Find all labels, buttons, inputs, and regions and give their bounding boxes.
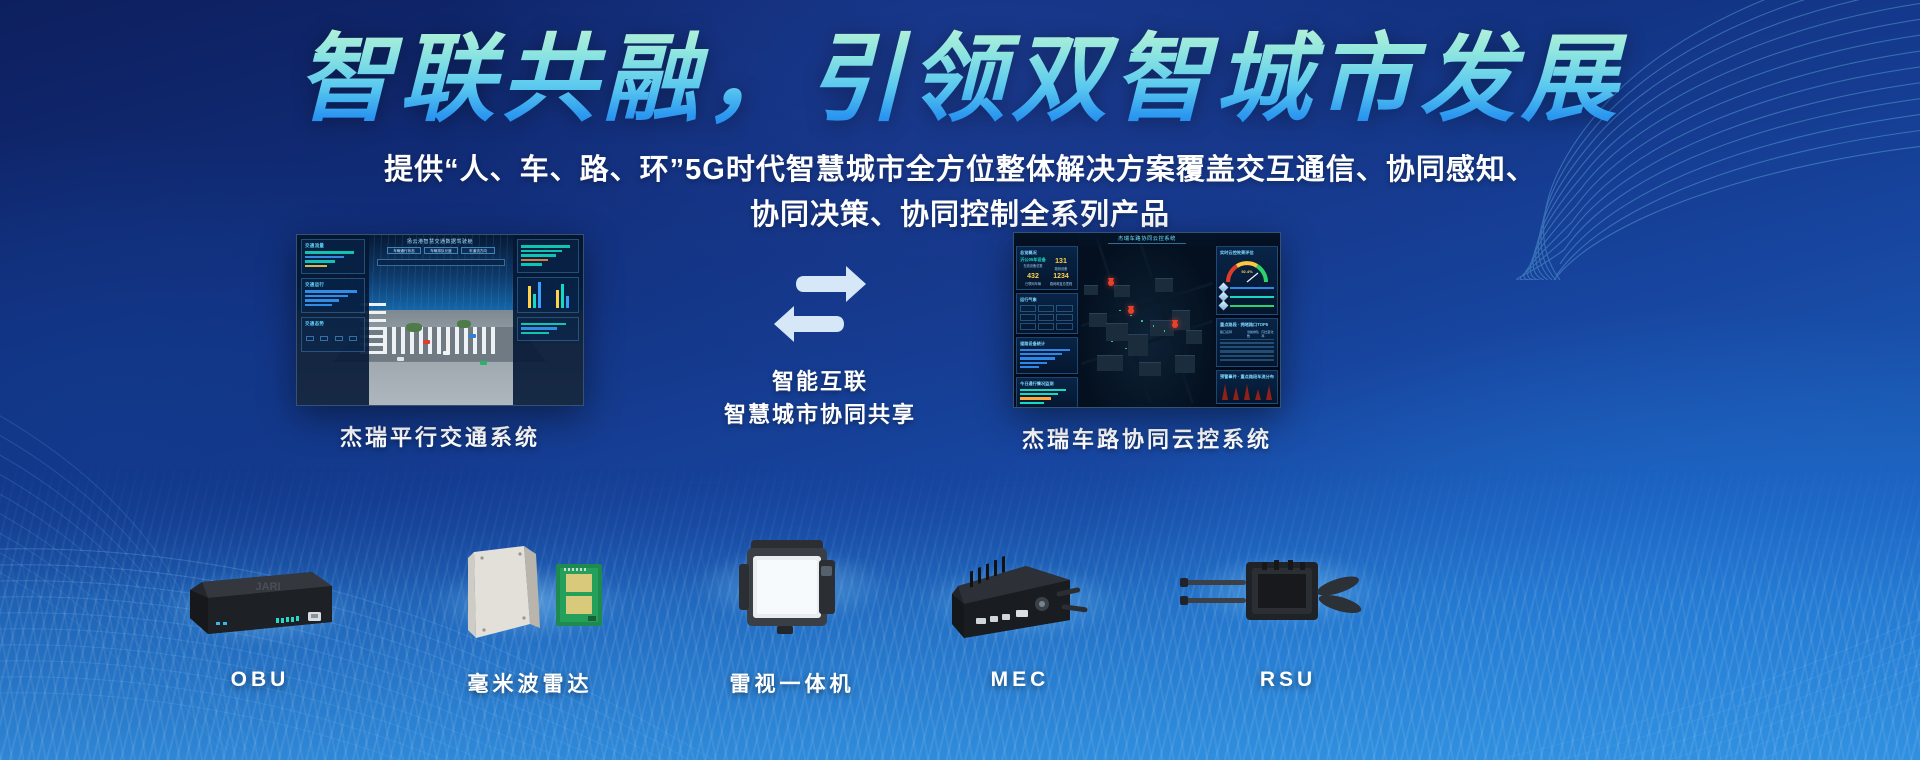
weather-cell [1020, 314, 1036, 321]
metric-bar [521, 254, 556, 257]
right-panel-caption: 杰瑞车路协同云控系统 [1013, 422, 1281, 454]
radar-device-art [410, 542, 650, 646]
stat-bar [1020, 397, 1051, 399]
card-cloud-effect: 实时云控效果评估 92.4% [1216, 246, 1278, 315]
table-row [1220, 350, 1274, 352]
weather-cell [1038, 305, 1054, 312]
bar [566, 296, 569, 308]
left-card-traffic-run-title: 交通运行 [305, 282, 361, 288]
stat-bar [1020, 353, 1062, 355]
spike-bar [1233, 387, 1239, 400]
card-device-stats: 道路设备统计 [1016, 337, 1078, 374]
product-item-rsu[interactable]: RSU [1168, 530, 1408, 692]
map-sensor-dot [1141, 320, 1143, 322]
obu-device-icon: JARI [180, 556, 340, 648]
map-building [1106, 323, 1128, 341]
rsu-device-art [1168, 530, 1408, 634]
product-item-mec[interactable]: MEC [900, 542, 1140, 692]
scene-crosswalk-h [383, 327, 497, 354]
card-weather: 运行气象 [1016, 293, 1078, 334]
metric-bar [305, 304, 332, 307]
mec-device-art [900, 542, 1140, 646]
map-building [1097, 355, 1123, 371]
svg-text:JARI: JARI [255, 581, 280, 593]
legend-bar [1230, 287, 1274, 289]
card-congestion-top-title: 重点路段 · 拥堵路口TOP5 [1220, 322, 1274, 328]
weather-cell [1020, 305, 1036, 312]
bar [528, 286, 531, 308]
card-overview: 总览概况 沂公05年设备 在线设备总数 131 路侧设备 [1016, 246, 1078, 290]
center-caption-line-1: 智能互联 [640, 365, 1000, 398]
map-marker-pin[interactable] [1172, 320, 1178, 328]
product-label-camera: 雷视一体机 [672, 668, 912, 698]
obu-device-art: JARI [140, 548, 380, 652]
left-screen-toolbar[interactable]: 车辆通行状态 车辆排队长度 车道流方向 [371, 247, 511, 254]
spike-bar [1255, 389, 1261, 400]
right-screen-sidebar-left: 总览概况 沂公05年设备 在线设备总数 131 路侧设备 [1016, 246, 1078, 405]
scene-car-5 [480, 361, 487, 365]
map-building [1089, 313, 1107, 327]
card-today-traffic-title: 今日通行情况监测 [1020, 381, 1074, 387]
toolbar-button-0[interactable]: 车辆通行状态 [387, 247, 421, 254]
parallel-traffic-system-screenshot[interactable]: 扬云港智慧交通数据驾驶舱 车辆通行状态 车辆排队长度 车道流方向 交通流量 [296, 234, 584, 406]
right-dashboard-panel[interactable]: 杰瑞车路协同云控系统 总览概况 沂公05年设备 在线设备总数 131 路 [1013, 232, 1281, 454]
scene-car-1 [423, 340, 430, 344]
table-row [1220, 359, 1274, 361]
right-card-a [517, 239, 579, 273]
product-item-radar[interactable]: 毫米波雷达 [410, 542, 650, 698]
weather-cell [1056, 323, 1072, 330]
product-label-obu: OBU [140, 668, 380, 692]
center-caption-line-2: 智慧城市协同共享 [640, 398, 1000, 431]
left-panel-caption: 杰瑞平行交通系统 [296, 420, 584, 452]
product-row: JARI OBU [0, 548, 1920, 748]
card-cloud-effect-title: 实时云控效果评估 [1220, 250, 1274, 256]
map-sensor-dot [1111, 341, 1113, 343]
product-item-camera[interactable]: 雷视一体机 [672, 526, 912, 698]
city-3d-map[interactable] [1078, 233, 1216, 407]
weather-cell [1056, 305, 1072, 312]
toolbar-button-1[interactable]: 车辆排队长度 [424, 247, 458, 254]
metric-bar [305, 265, 327, 268]
right-card-bars [517, 277, 579, 313]
map-marker-pin[interactable] [1108, 278, 1114, 286]
radar-camera-icon [717, 526, 867, 646]
center-caption: 智能互联 智慧城市协同共享 [640, 365, 1000, 431]
metric-bar [305, 251, 354, 254]
page-title: 智联共融，引领双智城市发展 [0, 24, 1920, 134]
card-flow-distribution-title: 预警事件 · 重点路段车流分布 [1220, 374, 1274, 380]
metric-bar [521, 323, 566, 326]
right-screen-header: 杰瑞车路协同云控系统 [1014, 233, 1280, 246]
spike-bar [1266, 385, 1272, 400]
subtitle-line-2: 协同决策、协同控制全系列产品 [0, 193, 1920, 238]
left-dashboard-panel[interactable]: 扬云港智慧交通数据驾驶舱 车辆通行状态 车辆排队长度 车道流方向 交通流量 [296, 234, 584, 452]
spike-bar [1222, 384, 1228, 400]
map-building [1128, 334, 1148, 356]
bar [533, 294, 536, 308]
col-head: 当前排队数 [1247, 330, 1260, 338]
map-building [1186, 330, 1202, 344]
bar [561, 284, 564, 308]
right-dashboard-scene: 杰瑞车路协同云控系统 总览概况 沂公05年设备 在线设备总数 131 路 [1014, 233, 1280, 407]
scene-car-2 [443, 351, 450, 355]
bar [556, 290, 559, 308]
mec-device-icon [930, 546, 1110, 650]
metric-label: 路网覆盖总里程 [1048, 281, 1074, 286]
card-overview-title: 总览概况 [1020, 250, 1074, 256]
left-card-traffic-flow: 交通流量 [301, 239, 365, 274]
metric-value: 131 [1048, 258, 1074, 265]
weather-cell [1056, 314, 1072, 321]
scene-median-a [406, 323, 422, 332]
map-marker-pin[interactable] [1128, 306, 1134, 314]
weather-cell [1038, 314, 1054, 321]
metric-label: 已联网车辆 [1020, 281, 1046, 286]
banner-stage: 智联共融，引领双智城市发展 提供“人、车、路、环”5G时代智慧城市全方位整体解决… [0, 0, 1920, 760]
map-sensor-dot [1164, 330, 1166, 332]
scene-car-4 [397, 357, 404, 361]
col-head: 同比变化率 [1262, 330, 1275, 338]
legend-bar [1230, 305, 1274, 307]
map-building [1150, 320, 1174, 336]
stat-bar [1020, 362, 1047, 364]
map-building [1114, 285, 1130, 297]
left-screen-sidebar-left: 交通流量 交通运行 交通态势 [297, 235, 369, 405]
status-chip [306, 336, 314, 341]
subtitle-line-1: 提供“人、车、路、环”5G时代智慧城市全方位整体解决方案覆盖交互通信、协同感知、 [0, 148, 1920, 193]
card-today-traffic: 今日通行情况监测 [1016, 377, 1078, 408]
status-chip [335, 336, 343, 341]
stat-bar [1020, 402, 1044, 404]
status-chip [349, 336, 357, 341]
product-label-mec: MEC [900, 668, 1140, 692]
table-row [1220, 346, 1274, 348]
map-sensor-dot [1130, 315, 1132, 317]
metric-label: 在线设备总数 [1020, 263, 1046, 268]
map-building [1175, 355, 1195, 373]
page-subtitle: 提供“人、车、路、环”5G时代智慧城市全方位整体解决方案覆盖交互通信、协同感知、… [0, 148, 1920, 238]
card-congestion-top: 重点路段 · 拥堵路口TOP5 路口名称 当前排队数 同比变化率 [1216, 318, 1278, 367]
map-building [1139, 362, 1161, 376]
left-card-traffic-status-title: 交通态势 [305, 321, 361, 327]
left-screen-sidebar-right [513, 235, 583, 405]
product-item-obu[interactable]: JARI OBU [140, 548, 380, 692]
left-screen-search-input[interactable] [377, 259, 505, 266]
left-card-traffic-flow-title: 交通流量 [305, 243, 361, 249]
card-weather-title: 运行气象 [1020, 297, 1074, 303]
metric-bar [305, 260, 335, 263]
camera-device-art [672, 526, 912, 630]
status-chip [320, 336, 328, 341]
map-sensor-dot [1119, 310, 1121, 312]
metric-bar [521, 245, 570, 248]
stat-bar [1020, 366, 1039, 368]
metric-bar [521, 263, 542, 266]
bar [538, 282, 541, 308]
left-dashboard-scene: 扬云港智慧交通数据驾驶舱 车辆通行状态 车辆排队长度 车道流方向 交通流量 [297, 235, 583, 405]
metric-value: 1234 [1048, 273, 1074, 280]
spike-bar [1244, 384, 1250, 400]
mmwave-radar-icon [440, 542, 620, 652]
stat-bar [1020, 393, 1058, 395]
exchange-arrows-icon [770, 262, 870, 346]
toolbar-button-2[interactable]: 车道流方向 [461, 247, 495, 254]
metric-value: 432 [1020, 273, 1046, 280]
product-label-radar: 毫米波雷达 [410, 668, 650, 698]
scene-median-b [457, 320, 471, 328]
metric-bar [521, 327, 557, 330]
left-card-traffic-status: 交通态势 [301, 317, 365, 352]
metric-label: 路侧设备 [1048, 266, 1074, 271]
metric-value: 沂公05年设备 [1020, 258, 1046, 262]
legend-bar [1230, 296, 1274, 298]
cube-icon [1219, 301, 1229, 311]
right-card-b [517, 317, 579, 342]
stat-bar [1020, 389, 1066, 391]
weather-cell [1020, 323, 1036, 330]
metric-bar [521, 250, 562, 253]
map-building [1084, 285, 1098, 295]
card-flow-distribution: 预警事件 · 重点路段车流分布 [1216, 370, 1278, 404]
center-connector: 智能互联 智慧城市协同共享 [640, 262, 1000, 431]
stat-bar [1020, 349, 1070, 351]
metric-bar [521, 259, 548, 262]
map-sensor-dot [1153, 325, 1155, 327]
table-row [1220, 342, 1274, 344]
rsu-device-icon [1178, 536, 1388, 646]
right-screen-title: 杰瑞车路协同云控系统 [1108, 235, 1186, 244]
stat-bar [1020, 357, 1055, 359]
product-label-rsu: RSU [1168, 668, 1408, 692]
metric-bar [305, 295, 348, 298]
scene-car-3 [469, 334, 476, 338]
cloud-control-system-screenshot[interactable]: 杰瑞车路协同云控系统 总览概况 沂公05年设备 在线设备总数 131 路 [1013, 232, 1281, 408]
map-building [1155, 278, 1173, 292]
metric-bar [521, 332, 549, 335]
metric-bar [305, 290, 357, 293]
gauge-value: 92.4% [1224, 269, 1270, 274]
metric-bar [305, 299, 339, 302]
left-screen-title: 扬云港智慧交通数据驾驶舱 [407, 238, 473, 245]
left-card-traffic-run: 交通运行 [301, 278, 365, 313]
weather-cell [1038, 323, 1054, 330]
table-row [1220, 355, 1274, 357]
col-head: 路口名称 [1220, 330, 1245, 338]
card-device-stats-title: 道路设备统计 [1020, 341, 1074, 347]
efficiency-gauge: 92.4% [1224, 258, 1270, 282]
metric-bar [305, 256, 344, 259]
right-screen-sidebar-right: 实时云控效果评估 92.4% [1216, 246, 1278, 405]
